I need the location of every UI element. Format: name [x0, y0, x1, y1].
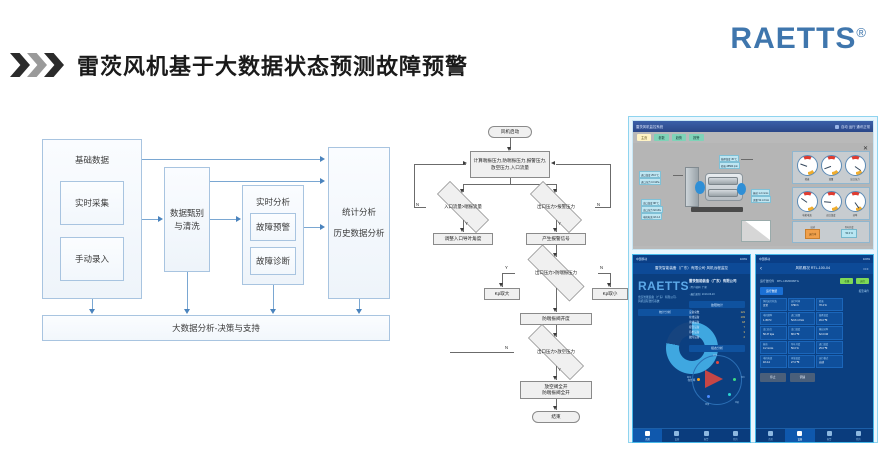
- phone2-bottom-nav[interactable]: 首页 设备 报警 我的: [756, 428, 873, 442]
- fc-start: 风机启动: [488, 126, 532, 138]
- gauge-motor-current-caption: 电机电流: [797, 213, 818, 217]
- device-label: 运行监控件: [760, 279, 774, 283]
- metric-cell: 运行时间3790 h: [788, 298, 815, 311]
- gauge-dial-icon: [845, 155, 866, 176]
- gauge-flow: 流量: [821, 155, 842, 181]
- registered-mark-icon: ®: [856, 25, 867, 40]
- nav-devices[interactable]: 设备: [785, 429, 814, 442]
- connector: [142, 159, 320, 160]
- connector-arrow-icon: [553, 376, 557, 380]
- blower-illustration: [681, 163, 753, 219]
- nav-alarms[interactable]: 报警: [815, 429, 844, 442]
- connector-arrow-icon: [89, 309, 95, 314]
- radar-label-temp: 温度: [705, 403, 709, 406]
- fc-branch-yes: Y: [558, 367, 561, 372]
- fc-decision-antisurge: 出口压力>防喘振压力: [514, 258, 598, 288]
- callout-motor-current: 电机电流 18.4 A: [641, 213, 662, 220]
- fc-valve-opening-label: 防喘振阀开度: [542, 316, 570, 322]
- chevron-right-icon: [44, 53, 64, 77]
- device-icon: [797, 431, 802, 436]
- connector: [414, 164, 466, 165]
- callout-vibration: 振动 1.2 mm/s: [751, 189, 770, 196]
- hmi-tabs[interactable]: 主页 参数 趋势 报警: [633, 132, 873, 143]
- phone2-battery: 100%: [863, 257, 870, 261]
- node-footer-bar: 大数据分析-决策与支持: [42, 315, 390, 341]
- fc-branch-no: N: [505, 345, 508, 350]
- metric-cell: 电机电流18.4 A: [760, 355, 787, 368]
- status-badge-running: 运行: [856, 278, 869, 284]
- node-data-clean-label: 数据甄别 与清洗: [170, 207, 204, 233]
- gauge-dial-icon: [797, 155, 818, 176]
- node-fault-warning-label: 故障预警: [256, 221, 290, 234]
- radar-point-speed: [716, 361, 719, 364]
- node-data-clean: 数据甄别 与清洗: [164, 167, 210, 272]
- gauge-motor-current: 电机电流: [797, 191, 818, 217]
- connector-arrow-icon: [320, 224, 325, 230]
- connector: [450, 352, 514, 353]
- nav-devices-label: 设备: [675, 439, 680, 441]
- radar-label-flow: 流量: [735, 401, 739, 404]
- radar-label-vibration: 振动: [687, 376, 691, 379]
- metric-cell: 导叶开度50.0 %: [788, 341, 815, 354]
- phone1-header: 雷茨智能装备（广东）有限公司·风机远程监控: [633, 263, 750, 274]
- hmi-tab-params[interactable]: 参数: [654, 134, 668, 141]
- nav-devices-label: 设备: [798, 439, 803, 441]
- blower-base: [691, 207, 743, 212]
- tab-row: 运行数据 报警事件: [760, 287, 869, 295]
- fc-compute-label: 计算喘振压力,防喘振压力,报警压力,放空压力,入口流量: [473, 158, 547, 170]
- callout-inlet-press: 进口压力 0.0 kPa: [639, 178, 661, 185]
- phone1-section-stats[interactable]: 统计分析: [638, 309, 692, 316]
- gauge-outlet-pressure: 出口压力: [845, 155, 866, 181]
- blower-motor-lower: [708, 189, 738, 197]
- nav-home[interactable]: 首页: [633, 429, 662, 442]
- radar-point-pressure: [733, 378, 736, 381]
- metric-cell: 风机运行状态正常: [760, 298, 787, 311]
- connector: [610, 164, 611, 207]
- fc-branch-no: N: [600, 265, 603, 270]
- fc-kp-small-label: Kp取小: [603, 291, 618, 297]
- radar-chart: 转速 压力 流量 温度 振动: [692, 355, 742, 405]
- gauge-dial-icon: [821, 191, 842, 212]
- alarm-icon: [827, 431, 832, 436]
- hmi-titlebar-right: 自动 运行 通讯正常: [841, 124, 870, 129]
- connector-arrow-icon: [460, 228, 464, 232]
- connector: [450, 352, 451, 353]
- hmi-tab-alarm[interactable]: 报警: [689, 134, 703, 141]
- radar-point-flow: [728, 393, 731, 396]
- metrics-grid: 风机运行状态正常 运行时间3790 h 转速78.4 % 电机频率1.45 Hz…: [760, 298, 869, 368]
- blower-motor-upper: [708, 177, 738, 185]
- phone2-header: ‹ 风机概况 RTL-100-04 •••: [756, 263, 873, 274]
- fc-end: 结束: [532, 411, 580, 423]
- fc-kp-big: Kp取大: [484, 288, 520, 300]
- connector-arrow-icon: [553, 228, 557, 232]
- metric-cell: 出口温度88.0 ℃: [788, 326, 815, 339]
- nav-profile-label: 我的: [856, 439, 861, 441]
- hmi-titlebar-left: 雷茨风机监控系统: [636, 124, 663, 129]
- metric-value: 正常: [763, 304, 784, 308]
- phone1-bottom-nav[interactable]: 首页 设备 报警 我的: [633, 428, 750, 442]
- nav-home[interactable]: 首页: [756, 429, 785, 442]
- nav-home-label: 首页: [645, 439, 650, 441]
- node-fault-diagnosis-label: 故障诊断: [256, 255, 290, 268]
- gauge-needle: [855, 166, 861, 171]
- phone1-section-radar[interactable]: 组态分析: [689, 345, 745, 352]
- fc-decision-blowoff-label: 出口压力>放空压力: [537, 349, 575, 355]
- mobile-dashboard-screenshot[interactable]: 中国移动 100% 雷茨智能装备（广东）有限公司·风机远程监控 RAETTS 雷…: [632, 254, 751, 443]
- connector-arrow-icon: [551, 161, 555, 165]
- fc-decision-antisurge-label: 出口压力>防喘振压力: [535, 270, 577, 276]
- phone1-section-fault[interactable]: 故障统计: [689, 301, 745, 308]
- metric-value: 自动: [819, 361, 840, 365]
- device-code: RTL-1FM0009TG: [777, 279, 799, 283]
- connector-arrow-icon: [184, 309, 190, 314]
- callout-leader: [673, 175, 683, 176]
- fc-action-alarm-signal: 产生报警信号: [526, 233, 586, 245]
- gauge-needle: [801, 198, 807, 203]
- stop-button[interactable]: 停止: [760, 373, 786, 382]
- connector: [187, 272, 188, 311]
- fc-branch-yes: Y: [505, 265, 508, 270]
- callout-inlet-temp: 进口温度 25.0 ℃: [639, 171, 661, 178]
- gauge-group-1: 转速 流量 出口压力: [792, 151, 870, 184]
- gauge-power-caption: 功率: [845, 213, 866, 217]
- fc-decision-outlet-alarm: 出口压力>报警压力: [517, 194, 595, 220]
- metric-value: 27.0 ℃: [791, 361, 812, 365]
- gauge-inlet-temp-caption: 进口温度: [821, 213, 842, 217]
- stat-key: 故障设备: [689, 336, 699, 341]
- connector-arrow-icon: [158, 216, 163, 222]
- home-icon: [768, 431, 773, 436]
- connector: [304, 227, 320, 228]
- screenshots-panel: 雷茨风机监控系统 自动 运行 通讯正常 主页 参数 趋势 报警 ✕: [628, 116, 878, 443]
- radar-label-speed: 转速: [713, 354, 717, 357]
- nav-alarms-label: 报警: [704, 439, 709, 441]
- phone1-statusbar: 中国移动 100%: [633, 255, 750, 263]
- fc-action-alarm-signal-label: 产生报警信号: [542, 236, 570, 242]
- gauge-outlet-pressure-caption: 出口压力: [845, 177, 866, 181]
- gauge-inlet-temp: 进口温度: [821, 191, 842, 217]
- alarm-icon: [704, 431, 709, 436]
- nav-alarms-label: 报警: [827, 439, 832, 441]
- hmi-status-icons: 自动 运行 通讯正常: [835, 124, 870, 129]
- callout-speed: 转速 28500 rpm: [719, 162, 740, 169]
- phone2-carrier: 中国移动: [759, 257, 770, 261]
- gauge-needle: [855, 202, 860, 208]
- logo-text: RAETTS: [730, 22, 856, 55]
- connector: [502, 273, 515, 274]
- callout-outlet-temp: 出口温度 88 ℃: [641, 199, 661, 206]
- metric-cell: 进口流量52.8 m³/min: [788, 312, 815, 325]
- link-alarm-events[interactable]: 报警事件: [859, 289, 869, 293]
- status-badge-online: 在线: [840, 278, 853, 284]
- metric-cell: 轴承温度45.0 ℃: [816, 312, 843, 325]
- connector: [142, 219, 158, 220]
- gauge-dial-icon: [821, 155, 842, 176]
- phone1-right-column: 雷茨智能装备（广东）有限公司 · 用户编码: 厂家 · 最后更新: 2019-0…: [689, 279, 745, 405]
- gauge-group-2: 电机电流 进口温度 功率: [792, 187, 870, 220]
- fc-action-adjust-vane: 调整入口导叶角度: [433, 233, 493, 245]
- node-realtime-analysis-label: 实时分析: [243, 196, 303, 209]
- stat-value: 2: [744, 336, 745, 341]
- node-realtime-collect: 实时采集: [60, 181, 124, 225]
- gauge-needle: [824, 201, 831, 202]
- metric-value: 50.0 %: [791, 347, 812, 351]
- phone1-header-title: 雷茨智能装备（广东）有限公司·风机远程监控: [637, 266, 746, 271]
- hmi-screenshot[interactable]: 雷茨风机监控系统 自动 运行 通讯正常 主页 参数 趋势 报警 ✕: [632, 120, 874, 250]
- fc-action-adjust-vane-label: 调整入口导叶角度: [445, 236, 482, 242]
- metric-cell: 运行模式自动: [816, 355, 843, 368]
- hmi-control-vane-value[interactable]: 50.0 %: [841, 229, 856, 238]
- fc-valve-opening: 防喘振阀开度: [520, 313, 592, 325]
- user-icon: [856, 431, 861, 436]
- hmi-control-start-value[interactable]: 运行中: [805, 229, 820, 239]
- radar-point-vibration: [697, 378, 700, 381]
- raetts-logo: RAETTS®: [730, 22, 867, 56]
- connector: [595, 207, 611, 208]
- hmi-diagram-thumbnail[interactable]: [741, 220, 771, 242]
- metric-value: 52.8 m³/min: [791, 319, 812, 323]
- node-base-data-label: 基础数据: [43, 154, 141, 167]
- gauge-dial-icon: [845, 191, 866, 212]
- connector: [510, 178, 511, 184]
- metric-cell: 环境温度27.0 ℃: [788, 355, 815, 368]
- connector: [414, 207, 426, 208]
- connector: [273, 285, 274, 311]
- node-fault-warning: 故障预警: [250, 213, 296, 241]
- phone2-header-title: 风机概况 RTL-100-04: [765, 266, 860, 271]
- home-icon: [645, 431, 650, 436]
- gauge-speed: 转速: [797, 155, 818, 181]
- stat-row: 故障设备2: [689, 336, 745, 341]
- fc-branch-yes: Y: [558, 221, 561, 226]
- fc-kp-big-label: Kp取大: [495, 291, 510, 297]
- metric-cell: 电机频率1.45 Hz: [760, 312, 787, 325]
- metric-value: 45.0 ℃: [819, 319, 840, 323]
- chevron-right-icon: [10, 53, 30, 77]
- metric-value: 25.0 ℃: [819, 347, 840, 351]
- fc-full-open-label: 放空阀全开 防喘振阀全开: [542, 384, 570, 396]
- metric-value: 88.0 ℃: [791, 333, 812, 337]
- phone1-carrier: 中国移动: [636, 257, 647, 261]
- phone2-body: 运行监控件 RTL-1FM0009TG 在线 运行 运行数据 报警事件 风机运行…: [756, 274, 873, 430]
- metric-value: 1.45 Hz: [763, 319, 784, 323]
- metric-cell: 进口温度25.0 ℃: [816, 341, 843, 354]
- speed-adjust-button[interactable]: 调速: [790, 373, 816, 382]
- node-manual-entry-label: 手动录入: [75, 253, 109, 266]
- node-statistics: 统计分析 历史数据分析: [328, 147, 390, 299]
- phone1-meta-user: · 用户编码: 厂家: [689, 286, 745, 291]
- metric-cell: 输出功率62.0 kW: [816, 326, 843, 339]
- connector-arrow-icon: [553, 308, 557, 312]
- connector-arrow-icon: [356, 309, 362, 314]
- hmi-control-panel: 启动 运行中 导叶开度 50.0 %: [792, 221, 870, 243]
- hmi-tab-home[interactable]: 主页: [637, 134, 651, 141]
- hmi-titlebar: 雷茨风机监控系统 自动 运行 通讯正常: [633, 121, 873, 132]
- metric-value: 58.37 kpa: [763, 333, 784, 337]
- node-fault-diagnosis: 故障诊断: [250, 247, 296, 275]
- phone1-body: RAETTS 雷茨智能装备（广东）有限公司- 风机远程监控系统 统计分析 在线率…: [633, 274, 750, 430]
- connector-arrow-icon: [553, 406, 557, 410]
- phone1-battery: 100%: [740, 257, 747, 261]
- connector-arrow-icon: [320, 178, 325, 184]
- connector: [210, 181, 320, 182]
- device-icon: [674, 431, 679, 436]
- gauge-power: 功率: [845, 191, 866, 217]
- fc-start-label: 风机启动: [501, 129, 519, 135]
- phone1-meta-updated: · 最后更新: 2019-06-20: [689, 293, 745, 298]
- nav-devices[interactable]: 设备: [662, 429, 691, 442]
- user-icon: [733, 431, 738, 436]
- connector: [210, 219, 236, 220]
- hmi-control-vane[interactable]: 导叶开度 50.0 %: [841, 225, 856, 239]
- metric-cell: 振动0.2 mm/s: [760, 341, 787, 354]
- fc-decision-inlet-flow-label: 入口流量>喘振流量: [444, 204, 482, 210]
- nav-home-label: 首页: [768, 439, 773, 441]
- mobile-device-detail-screenshot[interactable]: 中国移动 100% ‹ 风机概况 RTL-100-04 ••• 运行监控件 RT…: [755, 254, 874, 443]
- callout-outlet-press: 出口压力 62 kPa: [641, 206, 663, 213]
- gauge-speed-caption: 转速: [797, 177, 818, 181]
- connector-arrow-icon: [320, 156, 325, 162]
- blower-impeller-left: [695, 181, 705, 194]
- radar-label-pressure: 压力: [741, 376, 745, 379]
- metric-value: 0.2 mm/s: [763, 347, 784, 351]
- gauge-flow-caption: 流量: [821, 177, 842, 181]
- tab-runtime-data[interactable]: 运行数据: [760, 287, 783, 295]
- block-diagram: 基础数据 实时采集 手动录入 数据甄别 与清洗 实时分析 故障预警 故障诊断 统…: [36, 133, 396, 341]
- radar-polygon: [705, 370, 723, 388]
- connector-arrow-icon: [499, 283, 503, 287]
- metric-value: 3790 h: [791, 304, 812, 308]
- fc-full-open: 放空阀全开 防喘振阀全开: [520, 381, 592, 399]
- metric-value: 78.4 %: [819, 304, 840, 308]
- connector-arrow-icon: [270, 309, 276, 314]
- connector-arrow-icon: [463, 161, 467, 165]
- device-identity-row: 运行监控件 RTL-1FM0009TG 在线 运行: [760, 278, 869, 284]
- metric-cell: 转速78.4 %: [816, 298, 843, 311]
- callout-leader: [741, 159, 753, 160]
- blower-impeller-right: [737, 183, 746, 195]
- back-icon[interactable]: ‹: [760, 266, 762, 272]
- phone1-brand-sub: 雷茨智能装备（广东）有限公司- 风机远程监控系统: [638, 296, 692, 305]
- nav-alarms[interactable]: 报警: [692, 429, 721, 442]
- fc-kp-small: Kp取小: [592, 288, 628, 300]
- connector-arrow-icon: [236, 216, 241, 222]
- gauge-needle: [824, 166, 831, 169]
- connector: [556, 164, 611, 165]
- hmi-body: ✕ 进口温度 25.0 ℃ 进口压力 0.0 kPa 出口温度 88 ℃ 出口压…: [633, 143, 873, 246]
- node-footer-bar-label: 大数据分析-决策与支持: [172, 322, 260, 335]
- nav-profile[interactable]: 我的: [721, 429, 750, 442]
- connector-arrow-icon: [607, 283, 611, 287]
- action-buttons: 停止 调速: [760, 373, 869, 382]
- node-statistics-label: 统计分析: [342, 206, 376, 219]
- fc-decision-blowoff: 出口压力>放空压力: [514, 338, 598, 366]
- page-title-row: 雷茨风机基于大数据状态预测故障预警: [10, 48, 468, 82]
- fc-end-label: 结束: [551, 414, 560, 420]
- page-title: 雷茨风机基于大数据状态预测故障预警: [77, 49, 468, 81]
- fc-compute: 计算喘振压力,防喘振压力,报警压力,放空压力,入口流量: [470, 151, 550, 178]
- fc-decision-inlet-flow: 入口流量>喘振流量: [424, 194, 502, 220]
- mobile-screenshots: 中国移动 100% 雷茨智能装备（广东）有限公司·风机远程监控 RAETTS 雷…: [632, 254, 874, 443]
- gauge-dial-icon: [797, 191, 818, 212]
- callout-bearing-temp: 轴承温度 45 ℃: [719, 155, 739, 162]
- node-history-label: 历史数据分析: [333, 227, 384, 240]
- metric-value: 62.0 kW: [819, 333, 840, 337]
- hmi-tab-trend[interactable]: 趋势: [672, 134, 686, 141]
- gauge-needle: [800, 163, 807, 166]
- chevron-right-icon: [27, 53, 47, 77]
- callout-flow: 流量 52 m³/min: [751, 196, 771, 203]
- radar-point-temp: [707, 395, 710, 398]
- nav-profile[interactable]: 我的: [844, 429, 873, 442]
- node-realtime-collect-label: 实时采集: [75, 197, 109, 210]
- fc-branch-yes: Y: [465, 221, 468, 226]
- nav-profile-label: 我的: [733, 439, 738, 441]
- connector: [414, 164, 415, 207]
- phone2-statusbar: 中国移动 100%: [756, 255, 873, 263]
- fc-decision-outlet-alarm-label: 出口压力>报警压力: [537, 204, 575, 210]
- node-manual-entry: 手动录入: [60, 237, 124, 281]
- more-options-icon[interactable]: •••: [863, 267, 869, 271]
- metric-value: 18.4 A: [763, 361, 784, 365]
- metric-cell: 出口压力58.37 kpa: [760, 326, 787, 339]
- hmi-control-start[interactable]: 启动 运行中: [805, 225, 820, 239]
- gauges-panel: 转速 流量 出口压力 电机电流: [792, 151, 870, 223]
- phone1-app-title: 雷茨智能装备（广东）有限公司: [689, 279, 745, 284]
- flowchart: 风机启动 计算喘振压力,防喘振压力,报警压力,放空压力,入口流量 入口流量>喘振…: [410, 120, 625, 430]
- chevron-arrows-icon: [10, 53, 61, 77]
- status-icon: [835, 125, 839, 129]
